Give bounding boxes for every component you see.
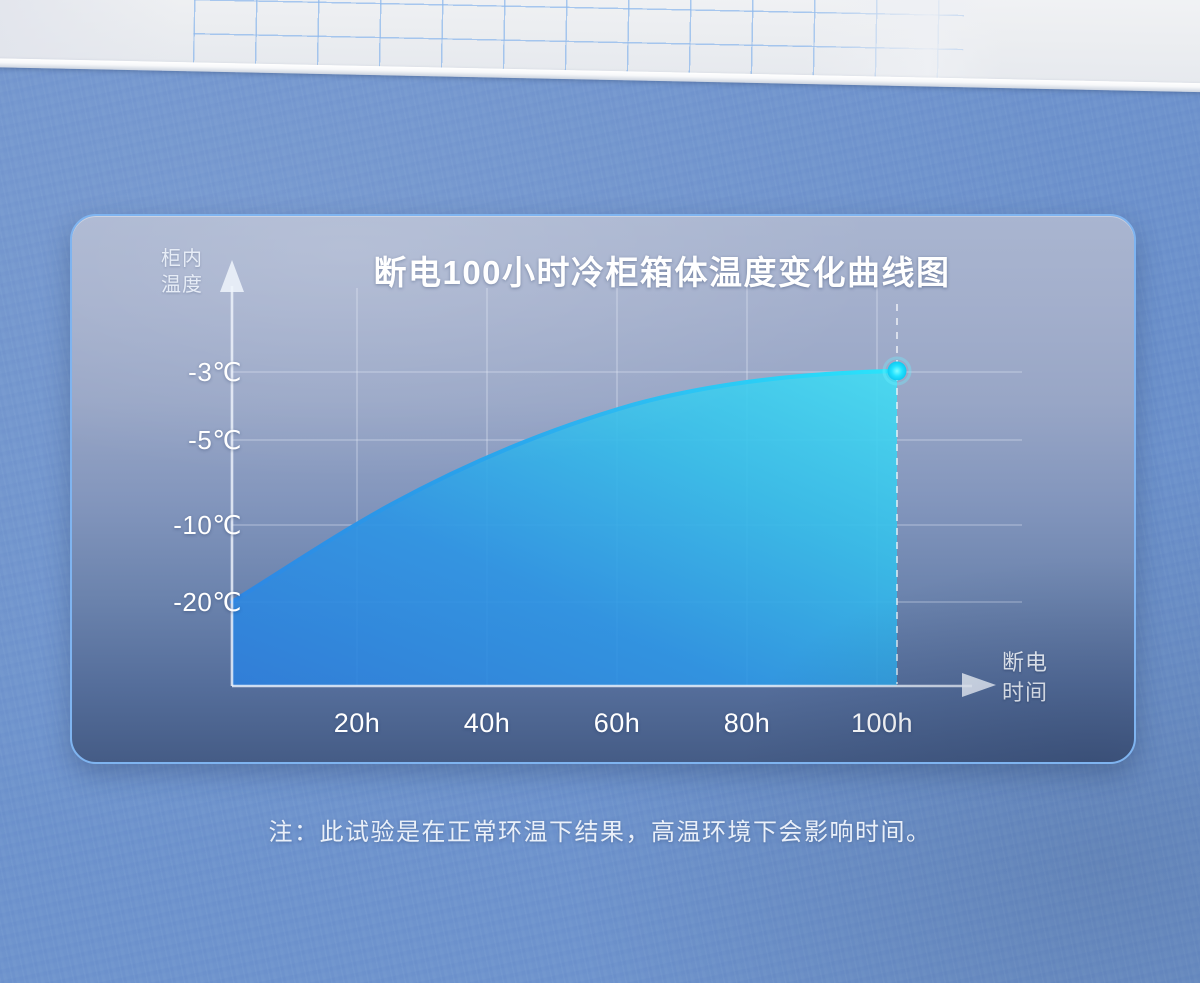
x-tick-label: 80h <box>687 708 807 739</box>
y-tick-label: -20℃ <box>112 587 242 618</box>
curve-area-fill <box>232 371 897 686</box>
y-tick-label: -5℃ <box>112 425 242 456</box>
chart-card: 断电100小时冷柜箱体温度变化曲线图 柜内 温度 断电 时间 -3℃ -5℃ -… <box>70 214 1136 764</box>
y-tick-label: -10℃ <box>112 510 242 541</box>
y-tick-label: -3℃ <box>112 357 242 388</box>
poster-canvas: 断电100小时冷柜箱体温度变化曲线图 柜内 温度 断电 时间 -3℃ -5℃ -… <box>0 0 1200 983</box>
endpoint-marker-dot <box>888 362 907 381</box>
x-tick-label: 60h <box>557 708 677 739</box>
x-axis-title: 断电 时间 <box>1002 648 1092 708</box>
x-tick-label: 40h <box>427 708 547 739</box>
x-tick-label: 100h <box>822 708 942 739</box>
footnote-text: 注：此试验是在正常环温下结果，高温环境下会影响时间。 <box>0 812 1200 847</box>
x-tick-label: 20h <box>297 708 417 739</box>
x-axis-arrow-icon <box>962 673 996 697</box>
y-tick-labels: -3℃ -5℃ -10℃ -20℃ <box>92 216 242 762</box>
x-axis-title-line2: 时间 <box>1002 678 1092 708</box>
x-axis-title-line1: 断电 <box>1002 648 1092 678</box>
